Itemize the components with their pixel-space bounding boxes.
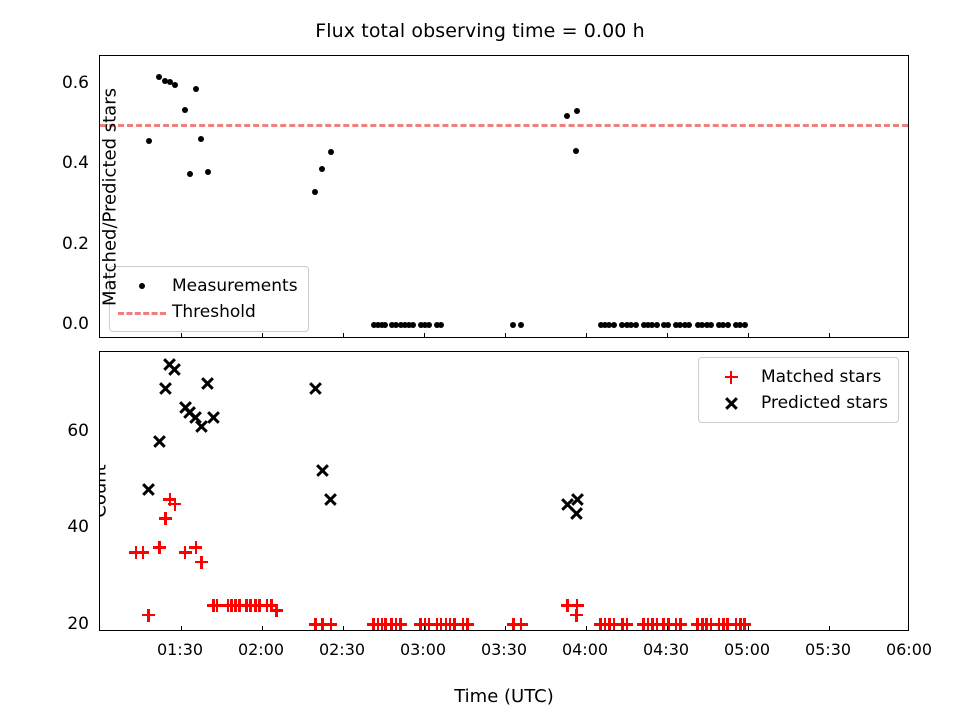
x-tick-mark — [586, 333, 587, 338]
y-tick-label: 0.0 — [37, 314, 89, 334]
y-tick-label: 20 — [37, 614, 89, 634]
data-point-measurements — [319, 166, 325, 172]
data-point-measurements — [510, 322, 516, 328]
x-tick-mark — [343, 626, 344, 631]
legend-label-predicted-stars: Predicted stars — [755, 393, 888, 413]
legend-item-matched-stars: Matched stars — [707, 364, 888, 390]
legend-item-threshold: Threshold — [118, 299, 298, 325]
x-tick-mark — [505, 626, 506, 631]
x-tick-label: 05:00 — [724, 640, 770, 659]
x-tick-mark — [748, 333, 749, 338]
x-tick-label: 03:00 — [400, 640, 446, 659]
x-tick-mark — [262, 333, 263, 338]
x-tick-mark — [586, 626, 587, 631]
x-tick-mark — [505, 333, 506, 338]
x-tick-mark — [667, 626, 668, 631]
legend-item-measurements: Measurements — [118, 273, 298, 299]
threshold-dash-icon — [118, 302, 166, 322]
x-tick-mark — [424, 626, 425, 631]
legend-label-matched-stars: Matched stars — [755, 367, 881, 387]
data-point-measurements — [146, 138, 152, 144]
figure-canvas: Flux total observing time = 0.00 h Measu… — [0, 0, 960, 720]
x-tick-mark — [829, 626, 830, 631]
predicted-cross-icon — [707, 393, 755, 413]
x-tick-label: 04:30 — [643, 640, 689, 659]
y-tick-label: 0.2 — [37, 234, 89, 254]
legend-item-predicted-stars: Predicted stars — [707, 390, 888, 416]
data-point-measurements — [742, 322, 748, 328]
data-point-measurements — [725, 322, 731, 328]
x-tick-mark — [262, 626, 263, 631]
data-point-measurements — [574, 108, 580, 114]
x-tick-mark — [181, 333, 182, 338]
x-tick-mark — [829, 333, 830, 338]
data-point-measurements — [328, 149, 334, 155]
data-point-measurements — [573, 148, 579, 154]
x-tick-mark — [343, 333, 344, 338]
ratio-plot-axes: Measurements Threshold Matched/Predicted… — [99, 55, 909, 338]
x-tick-label: 04:00 — [562, 640, 608, 659]
data-point-measurements — [426, 322, 432, 328]
matched-plus-icon — [707, 367, 755, 387]
ratio-plot-legend: Measurements Threshold — [109, 266, 309, 332]
y-tick-label: 0.4 — [37, 153, 89, 173]
x-axis-label: Time (UTC) — [99, 686, 909, 707]
ratio-y-axis-label: Matched/Predicted stars — [100, 55, 121, 338]
data-point-measurements — [686, 322, 692, 328]
x-tick-label: 06:00 — [886, 640, 932, 659]
count-plot-axes: Matched stars Predicted stars Count — [99, 351, 909, 631]
y-tick-label: 60 — [37, 421, 89, 441]
legend-label-threshold: Threshold — [166, 302, 256, 322]
data-point-measurements — [708, 322, 714, 328]
data-point-measurements — [382, 322, 388, 328]
data-point-measurements — [438, 322, 444, 328]
data-point-measurements — [187, 171, 193, 177]
x-tick-label: 01:30 — [157, 640, 203, 659]
data-point-measurements — [193, 86, 199, 92]
x-tick-mark — [181, 626, 182, 631]
data-point-measurements — [665, 322, 671, 328]
data-point-measurements — [633, 322, 639, 328]
data-point-measurements — [198, 136, 204, 142]
data-point-measurements — [205, 169, 211, 175]
data-point-measurements — [611, 322, 617, 328]
data-point-measurements — [182, 107, 188, 113]
data-point-measurements — [312, 189, 318, 195]
x-tick-label: 03:30 — [481, 640, 527, 659]
data-point-measurements — [564, 113, 570, 119]
x-tick-mark — [667, 333, 668, 338]
x-tick-mark — [748, 626, 749, 631]
data-point-measurements — [518, 322, 524, 328]
legend-label-measurements: Measurements — [166, 276, 298, 296]
x-tick-mark — [424, 333, 425, 338]
x-tick-label: 02:30 — [319, 640, 365, 659]
x-tick-label: 02:00 — [238, 640, 284, 659]
data-point-measurements — [172, 82, 178, 88]
measurements-dot-icon — [118, 276, 166, 296]
chart-title: Flux total observing time = 0.00 h — [0, 20, 960, 42]
count-plot-legend: Matched stars Predicted stars — [698, 357, 899, 423]
threshold-line — [100, 124, 908, 127]
count-y-axis-label: Count — [99, 351, 111, 631]
data-point-measurements — [654, 322, 660, 328]
x-tick-label: 05:30 — [805, 640, 851, 659]
data-point-measurements — [410, 322, 416, 328]
y-tick-label: 40 — [37, 517, 89, 537]
y-tick-label: 0.6 — [37, 73, 89, 93]
